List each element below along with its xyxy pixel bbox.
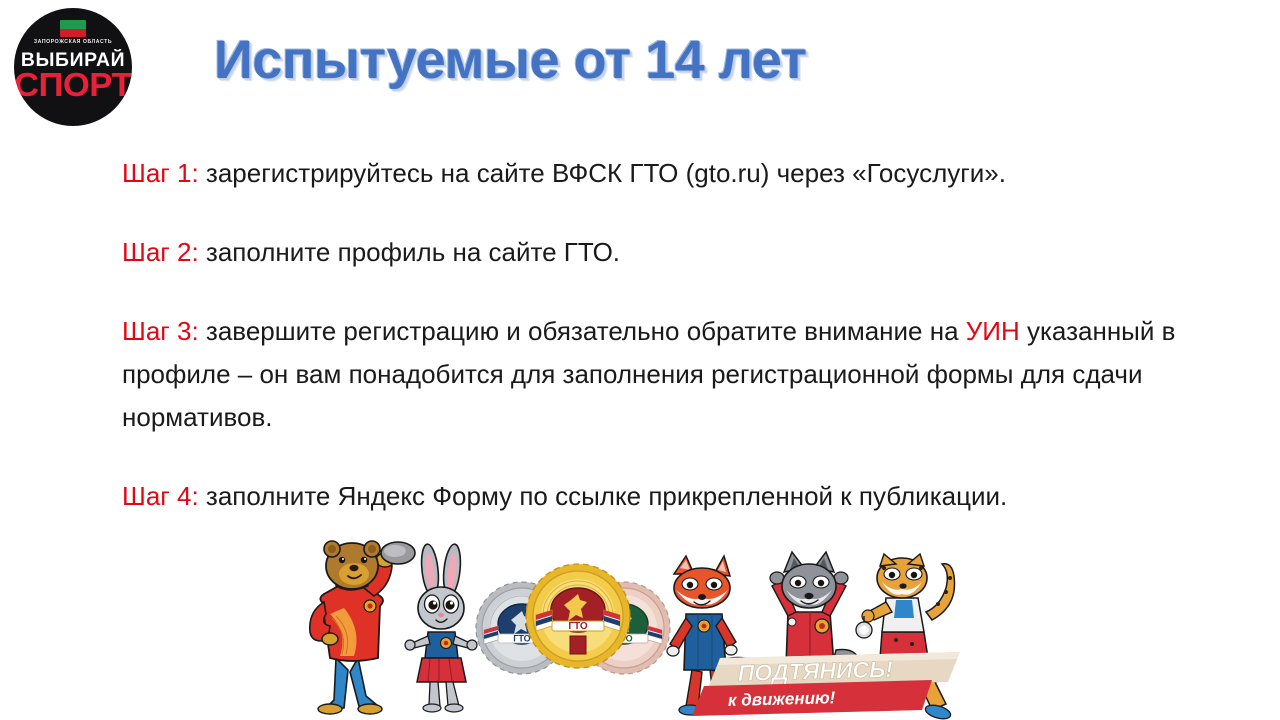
page-title: Испытуемые от 14 лет — [214, 29, 807, 91]
step-1-paragraph: Шаг 1: зарегистрируйтесь на сайте ВФСК Г… — [122, 152, 1212, 195]
step-2-text: заполните профиль на сайте ГТО. — [199, 237, 620, 267]
step-3-text-before: завершите регистрацию и обязательно обра… — [199, 316, 966, 346]
steps-list: Шаг 1: зарегистрируйтесь на сайте ВФСК Г… — [122, 152, 1212, 518]
step-1-label: Шаг 1: — [122, 158, 199, 188]
vybiray-sport-logo: ЗАПОРОЖСКАЯ ОБЛАСТЬ ВЫБИРАЙ СПОРТ — [14, 8, 132, 126]
zaporozhye-flag-icon — [60, 20, 86, 37]
flag-stripe-green — [60, 20, 86, 29]
rabbit-mascot — [405, 543, 477, 712]
bear-mascot — [310, 541, 415, 714]
medal-label-gold: ГТО — [568, 621, 588, 632]
step-3-highlight-uin: УИН — [966, 316, 1020, 346]
medal-label-silver: ГТО — [513, 634, 530, 644]
banner-line-1: ПОДТЯНИСЬ! — [737, 656, 893, 686]
logo-word-sport: СПОРТ — [14, 68, 132, 101]
step-2-paragraph: Шаг 2: заполните профиль на сайте ГТО. — [122, 231, 1212, 274]
flag-stripe-red — [60, 29, 86, 38]
gold-gto-medal: ГТО — [526, 564, 630, 668]
banner-line-2: к движению! — [728, 688, 836, 710]
logo-region-text: ЗАПОРОЖСКАЯ ОБЛАСТЬ — [14, 39, 132, 45]
step-4-paragraph: Шаг 4: заполните Яндекс Форму по ссылке … — [122, 475, 1212, 518]
step-4-text: заполните Яндекс Форму по ссылке прикреп… — [199, 481, 1008, 511]
gto-mascots-illustration: ГТО ГТО — [300, 540, 980, 720]
step-1-text: зарегистрируйтесь на сайте ВФСК ГТО (gto… — [199, 158, 1006, 188]
step-2-label: Шаг 2: — [122, 237, 199, 267]
step-4-label: Шаг 4: — [122, 481, 199, 511]
step-3-paragraph: Шаг 3: завершите регистрацию и обязатель… — [122, 310, 1212, 439]
slide-canvas: ЗАПОРОЖСКАЯ ОБЛАСТЬ ВЫБИРАЙ СПОРТ Испыту… — [0, 0, 1280, 720]
step-3-label: Шаг 3: — [122, 316, 199, 346]
podtyanis-banner: ПОДТЯНИСЬ! к движению! — [692, 652, 960, 716]
